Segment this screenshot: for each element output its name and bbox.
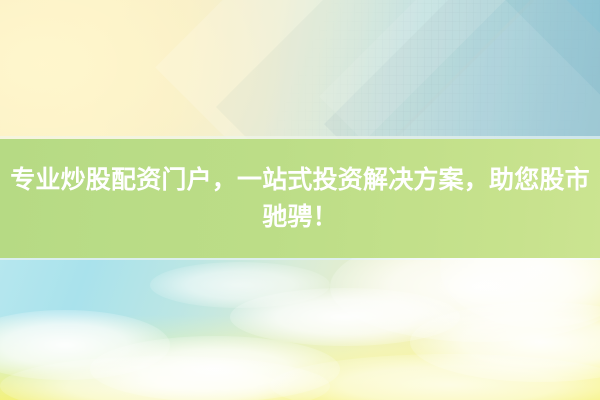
sky-background-decoration xyxy=(0,258,600,400)
sky-zone-divider xyxy=(0,258,600,260)
cloud-icon xyxy=(0,310,170,380)
cloud-icon xyxy=(0,356,330,400)
grid-texture-decoration xyxy=(270,0,600,139)
banner-headline: 专业炒股配资门户，一站式投资解决方案，助您股市驰骋！ xyxy=(2,162,598,235)
headline-band: 专业炒股配资门户，一站式投资解决方案，助您股市驰骋！ xyxy=(0,139,600,258)
top-gradient-decoration xyxy=(0,0,600,139)
cloud-icon xyxy=(270,354,600,400)
promotional-banner: 专业炒股配资门户，一站式投资解决方案，助您股市驰骋！ xyxy=(0,0,600,400)
cloud-icon xyxy=(410,302,600,382)
cloud-icon xyxy=(230,288,460,346)
cloud-icon xyxy=(150,262,330,308)
cloud-icon xyxy=(330,258,600,342)
warm-glow-decoration xyxy=(0,0,280,139)
cloud-icon xyxy=(440,258,600,328)
cloud-icon xyxy=(90,336,340,400)
